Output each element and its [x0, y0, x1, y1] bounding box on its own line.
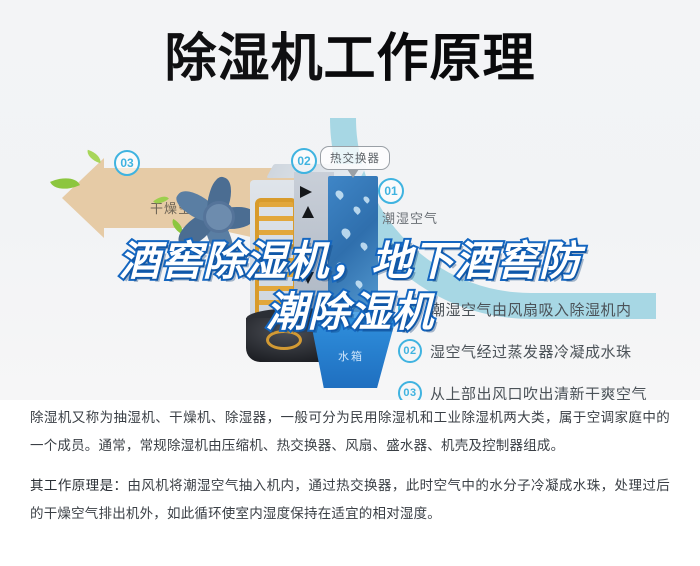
page-root: 除湿机工作原理 干燥空气	[0, 0, 700, 566]
step-text: 潮湿空气由风扇吸入除湿机内	[430, 299, 632, 320]
dry-air-arrow-head	[62, 158, 104, 238]
fan-hub	[203, 201, 235, 233]
infographic-hero: 除湿机工作原理 干燥空气	[0, 0, 700, 400]
step-badge-icon: 01	[398, 297, 422, 321]
air-intake-arrow	[378, 242, 398, 260]
page-title-part1: 除湿机	[164, 30, 323, 88]
article-paragraph-2: 其工作原理是：由风机将潮湿空气抽入机内，通过热交换器，此时空气中的水分子冷凝成水…	[30, 472, 670, 528]
compressor-ring	[266, 330, 302, 350]
list-item: 02 湿空气经过蒸发器冷凝成水珠	[398, 330, 690, 372]
article-paragraph-1: 除湿机又称为抽湿机、干燥机、除湿器，一般可分为民用除湿机和工业除湿机两大类，属于…	[30, 404, 670, 460]
list-item: 01 潮湿空气由风扇吸入除湿机内	[398, 288, 690, 330]
humid-air-label: 潮湿空气	[382, 208, 438, 227]
step-badge-03: 03	[114, 150, 140, 176]
step-badge-icon: 02	[398, 339, 422, 363]
list-item: 03 从上部出风口吹出清新干爽空气	[398, 372, 690, 400]
page-title-part2: 工作原理	[324, 30, 536, 88]
step-badge-icon: 03	[398, 381, 422, 400]
step-badge-01: 01	[378, 178, 404, 204]
condenser-coil	[255, 198, 297, 318]
evaporator	[328, 176, 378, 328]
water-tank-label: 水箱	[338, 348, 364, 364]
article-body: 除湿机又称为抽湿机、干燥机、除湿器，一般可分为民用除湿机和工业除湿机两大类，属于…	[0, 404, 700, 540]
article-paragraph-2-lead: 其工作原理是：	[30, 478, 127, 493]
page-title: 除湿机工作原理	[0, 28, 700, 90]
step-text: 湿空气经过蒸发器冷凝成水珠	[430, 341, 632, 362]
heat-exchanger-callout: 热交换器	[320, 146, 390, 170]
step-text: 从上部出风口吹出清新干爽空气	[430, 383, 647, 401]
step-list: 01 潮湿空气由风扇吸入除湿机内 02 湿空气经过蒸发器冷凝成水珠 03 从上部…	[398, 288, 690, 400]
step-badge-02: 02	[291, 148, 317, 174]
